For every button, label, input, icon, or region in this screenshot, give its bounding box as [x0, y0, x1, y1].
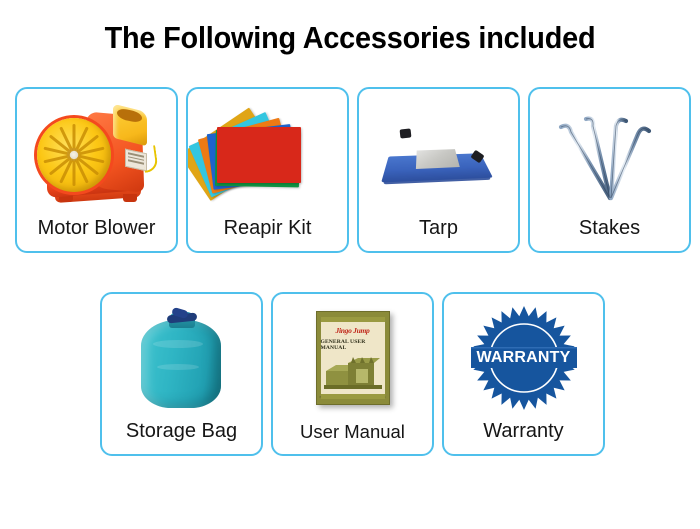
- warranty-badge-icon: WARRANTY: [444, 294, 603, 421]
- accessory-card-motor-blower[interactable]: Motor Blower: [15, 87, 178, 253]
- accessory-card-tarp[interactable]: Tarp: [357, 87, 520, 253]
- warranty-banner-text: WARRANTY: [471, 349, 577, 367]
- blower-grille-slot: [72, 124, 75, 151]
- blower-grille-slot: [72, 159, 75, 186]
- user-manual-icon: Jingo Jump GENERAL USER MANUAL: [273, 294, 432, 423]
- accessory-label: Motor Blower: [38, 218, 156, 251]
- repair-patch: [217, 127, 301, 183]
- accessory-card-warranty[interactable]: WARRANTY Warranty: [442, 292, 605, 456]
- storage-bag-icon: [102, 294, 261, 421]
- stakes-icon: [530, 89, 689, 218]
- accessory-label: Storage Bag: [126, 421, 237, 454]
- manual-logo: Jingo Jump: [336, 326, 370, 335]
- accessory-card-user-manual[interactable]: Jingo Jump GENERAL USER MANUAL: [271, 292, 434, 456]
- accessory-label: Warranty: [483, 421, 563, 454]
- accessory-label: Stakes: [579, 218, 640, 251]
- accessory-label: User Manual: [300, 423, 405, 455]
- accessory-card-stakes[interactable]: Stakes: [528, 87, 691, 253]
- page-title: The Following Accessories included: [25, 20, 676, 56]
- accessories-row-1: Motor Blower Reapir Kit Tarp: [15, 87, 691, 253]
- accessory-label: Tarp: [419, 218, 458, 251]
- repair-patches-icon: [188, 89, 347, 218]
- manual-title: GENERAL USER MANUAL: [321, 339, 385, 351]
- blower-icon: [17, 89, 176, 218]
- accessory-label: Reapir Kit: [224, 218, 312, 251]
- accessory-card-storage-bag[interactable]: Storage Bag: [100, 292, 263, 456]
- accessories-row-2: Storage Bag Jingo Jump GENERAL USER MANU…: [100, 292, 605, 456]
- accessory-card-repair-kit[interactable]: Reapir Kit: [186, 87, 349, 253]
- tarp-icon: [359, 89, 518, 218]
